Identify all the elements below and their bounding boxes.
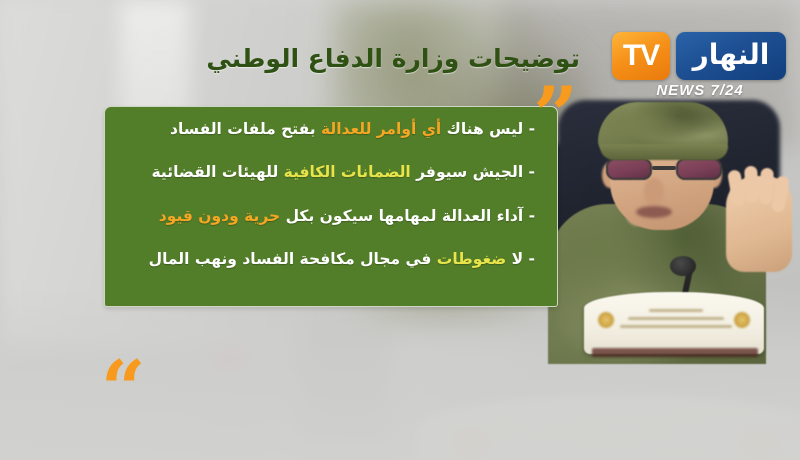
quote-line-4-highlight: ضغوطات <box>437 250 506 268</box>
person-military-official <box>540 96 800 358</box>
quote-line-1-pre: - ليس هناك <box>441 120 535 138</box>
logo-arabic-badge: النهار <box>676 32 786 80</box>
channel-logo: TV النهار NEWS 7/24 <box>612 32 788 102</box>
quote-line-4-pre: - لا <box>506 250 535 268</box>
list-item: - آداء العدالة لمهامها سيكون بكل حرية ود… <box>121 208 535 224</box>
quote-lines-list: - ليس هناك أي أوامر للعدالة بفتح ملفات ا… <box>105 107 557 306</box>
nameplate-text-line <box>620 325 732 328</box>
nameplate-text-line <box>649 309 703 312</box>
mouth <box>636 206 672 218</box>
page-title: توضيحات وزارة الدفاع الوطني <box>206 44 580 73</box>
logo-tv-badge: TV <box>612 32 670 80</box>
quote-line-3-highlight: حرية ودون قيود <box>159 207 280 225</box>
quote-line-2-pre: - الجيش سيوفر <box>411 163 535 181</box>
broadcast-lower-third-screen: توضيحات وزارة الدفاع الوطني - ليس هناك أ… <box>0 0 800 460</box>
logo-tagline: NEWS 7/24 <box>612 82 788 99</box>
logo-arabic-text: النهار <box>693 41 770 72</box>
cap-visor <box>600 144 728 160</box>
quote-line-4-post: في مجال مكافحة الفساد ونهب المال <box>149 250 437 268</box>
finger <box>744 166 759 203</box>
quote-line-1-post: بفتح ملفات الفساد <box>170 120 321 138</box>
nose <box>644 178 664 204</box>
glasses-bridge <box>652 166 676 170</box>
list-item: - ليس هناك أي أوامر للعدالة بفتح ملفات ا… <box>121 121 535 137</box>
quote-panel: - ليس هناك أي أوامر للعدالة بفتح ملفات ا… <box>104 106 558 307</box>
logo-boxes: TV النهار <box>612 32 786 80</box>
nameplate-base <box>592 348 758 357</box>
glasses-lens-right <box>676 158 722 180</box>
quote-line-3-pre: - آداء العدالة لمهامها سيكون بكل <box>280 207 535 225</box>
glasses-lens-left <box>606 158 652 180</box>
quote-line-2-post: للهيئات القضائية <box>152 163 284 181</box>
quote-line-1-highlight: أي أوامر للعدالة <box>321 120 441 138</box>
list-item: - لا ضغوطات في مجال مكافحة الفساد ونهب ا… <box>121 251 535 267</box>
microphone-head <box>670 256 696 276</box>
finger <box>759 168 774 205</box>
logo-tv-text: TV <box>623 41 659 71</box>
nameplate-text-lines <box>612 304 740 333</box>
tinted-glasses-icon <box>606 158 722 180</box>
list-item: - الجيش سيوفر الضمانات الكافية للهيئات ا… <box>121 164 535 180</box>
nameplate-text-line <box>628 317 724 320</box>
quote-line-2-highlight: الضمانات الكافية <box>284 163 411 181</box>
